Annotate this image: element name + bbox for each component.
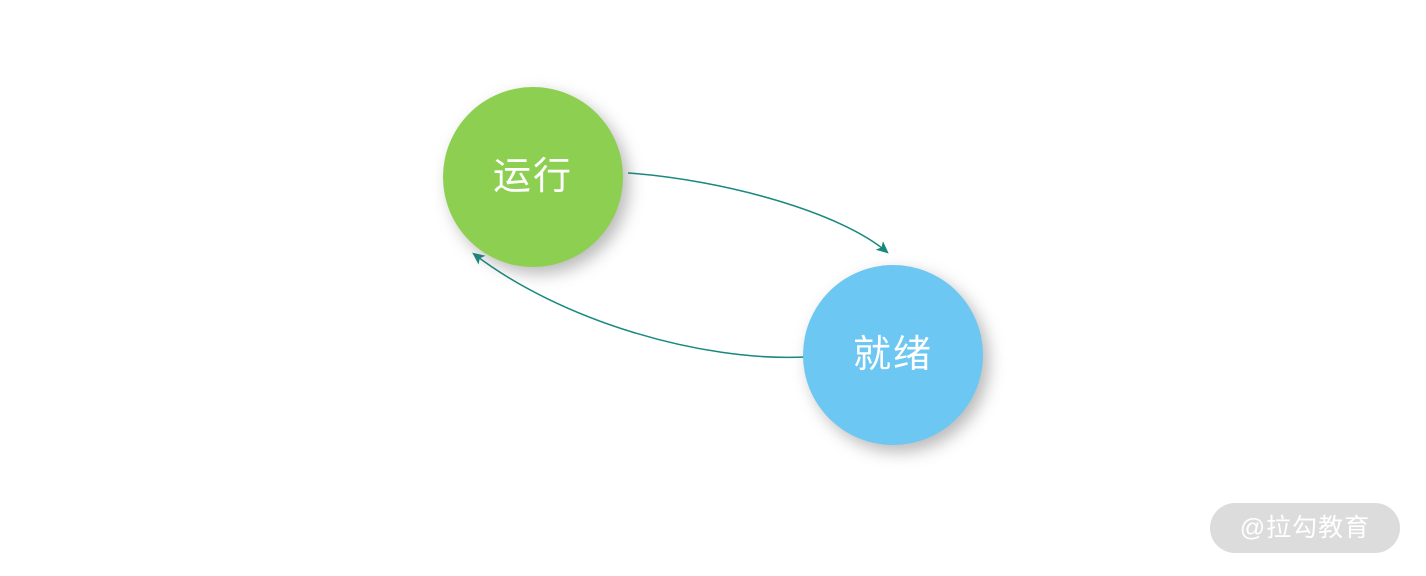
state-node-ready-label: 就绪 — [853, 336, 933, 374]
watermark-text: @拉勾教育 — [1240, 516, 1370, 541]
watermark-badge: @拉勾教育 — [1210, 503, 1400, 553]
edge-ready-to-running — [474, 254, 806, 357]
state-node-running[interactable]: 运行 — [443, 87, 623, 267]
edge-layer — [0, 0, 1426, 576]
state-node-ready[interactable]: 就绪 — [803, 265, 983, 445]
diagram-canvas: 运行 就绪 @拉勾教育 — [0, 0, 1426, 576]
state-node-running-label: 运行 — [493, 158, 573, 196]
edge-running-to-ready — [628, 173, 887, 252]
